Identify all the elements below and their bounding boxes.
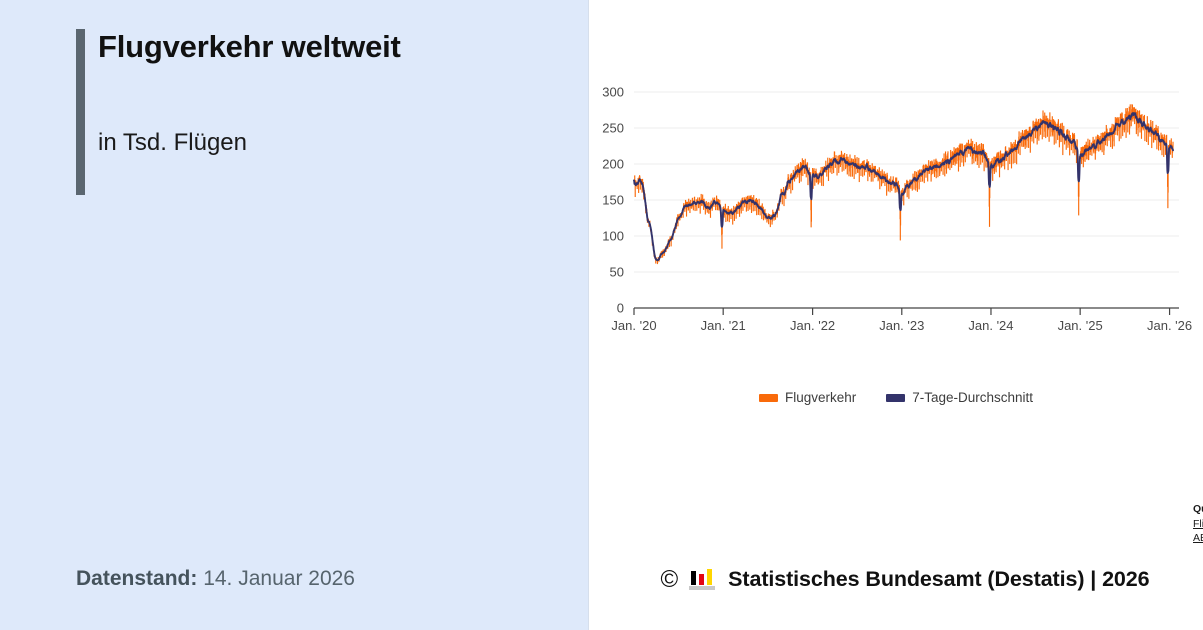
accent-bar — [76, 29, 85, 195]
y-axis-tick-250: 250 — [602, 121, 624, 136]
y-axis-tick-300: 300 — [602, 85, 624, 100]
x-axis-tick-5: Jan. '25 — [1058, 318, 1103, 333]
infographic-root: Flugverkehr weltweit in Tsd. Flügen Date… — [0, 0, 1203, 630]
legend-swatch-daily — [759, 394, 778, 402]
sources-block: Quellen: Flightradar24 AB — [1193, 502, 1203, 546]
footer: © Statistisches Bundesamt (Destatis) | 2… — [589, 567, 1203, 592]
legend-item-daily[interactable]: Flugverkehr — [759, 390, 856, 405]
y-axis-tick-100: 100 — [602, 229, 624, 244]
copyright-icon: © — [660, 568, 678, 592]
x-axis-tick-4: Jan. '24 — [968, 318, 1013, 333]
legend-swatch-average — [886, 394, 905, 402]
y-axis-tick-0: 0 — [617, 301, 624, 316]
flight-traffic-chart: 050100150200250300Jan. '20Jan. '21Jan. '… — [589, 70, 1203, 370]
y-axis-tick-200: 200 — [602, 157, 624, 172]
sources-label: Quellen: — [1193, 502, 1203, 516]
datenstand: Datenstand: 14. Januar 2026 — [76, 567, 355, 591]
legend-label-daily: Flugverkehr — [785, 390, 856, 405]
page-title: Flugverkehr weltweit — [98, 29, 546, 65]
source-link-flightradar24[interactable]: Flightradar24 AB — [1193, 517, 1203, 545]
x-axis-tick-2: Jan. '22 — [790, 318, 835, 333]
destatis-logo — [689, 569, 717, 591]
chart-legend: Flugverkehr 7-Tage-Durchschnitt — [589, 390, 1203, 405]
right-panel: 050100150200250300Jan. '20Jan. '21Jan. '… — [589, 0, 1203, 630]
x-axis-tick-1: Jan. '21 — [701, 318, 746, 333]
page-subtitle: in Tsd. Flügen — [98, 129, 247, 157]
legend-label-average: 7-Tage-Durchschnitt — [912, 390, 1033, 405]
chart-container: 050100150200250300Jan. '20Jan. '21Jan. '… — [589, 70, 1203, 370]
x-axis-tick-0: Jan. '20 — [611, 318, 656, 333]
datenstand-value: 14. Januar 2026 — [197, 567, 355, 590]
footer-text: Statistisches Bundesamt (Destatis) | 202… — [728, 567, 1149, 592]
datenstand-label: Datenstand: — [76, 567, 197, 590]
series-7-tage-durchschnitt — [634, 113, 1173, 260]
title-block: Flugverkehr weltweit in Tsd. Flügen — [76, 29, 546, 65]
x-axis-tick-6: Jan. '26 — [1147, 318, 1192, 333]
sources-row: Flightradar24 AB — [1193, 517, 1203, 545]
left-panel: Flugverkehr weltweit in Tsd. Flügen Date… — [0, 0, 589, 630]
y-axis-tick-50: 50 — [610, 265, 624, 280]
y-axis-tick-150: 150 — [602, 193, 624, 208]
legend-item-average[interactable]: 7-Tage-Durchschnitt — [886, 390, 1033, 405]
x-axis-tick-3: Jan. '23 — [879, 318, 924, 333]
